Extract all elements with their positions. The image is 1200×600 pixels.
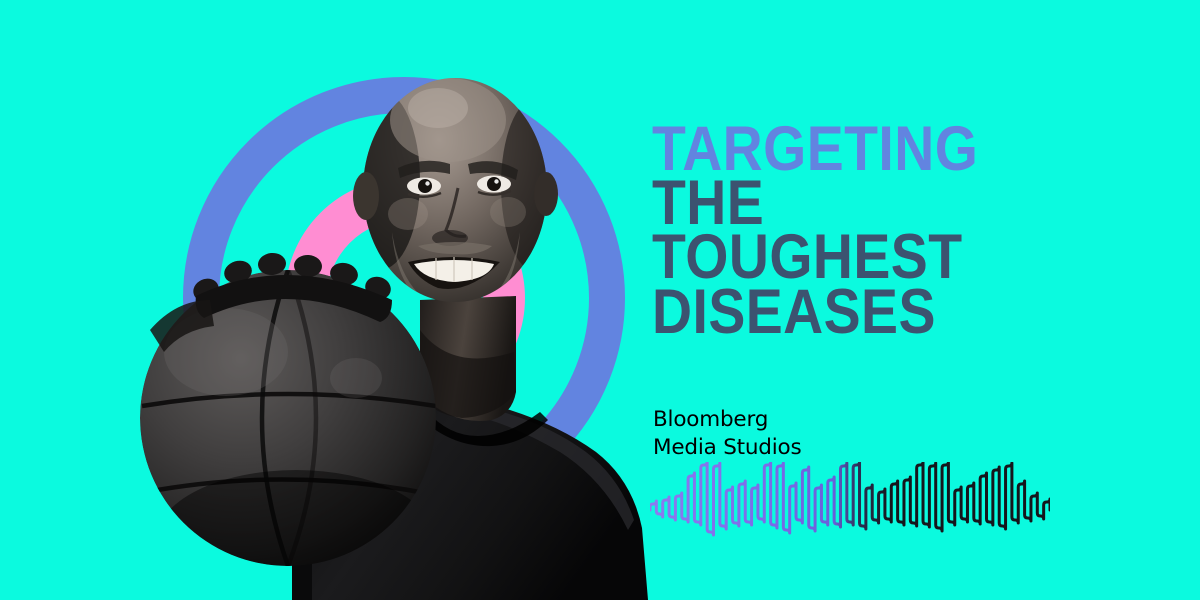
portrait-photo — [0, 0, 660, 600]
podcast-cover-art: TARGETING THE TOUGHEST DISEASES Bloomber… — [0, 0, 1200, 600]
headline-line-4: DISEASES — [652, 285, 1066, 339]
brand-lockup: Bloomberg Media Studios — [653, 406, 802, 461]
brand-line-1: Bloomberg — [653, 406, 802, 434]
headline: TARGETING THE TOUGHEST DISEASES — [652, 122, 1122, 339]
brand-line-2: Media Studios — [653, 434, 802, 462]
audio-waveform — [650, 462, 1050, 558]
